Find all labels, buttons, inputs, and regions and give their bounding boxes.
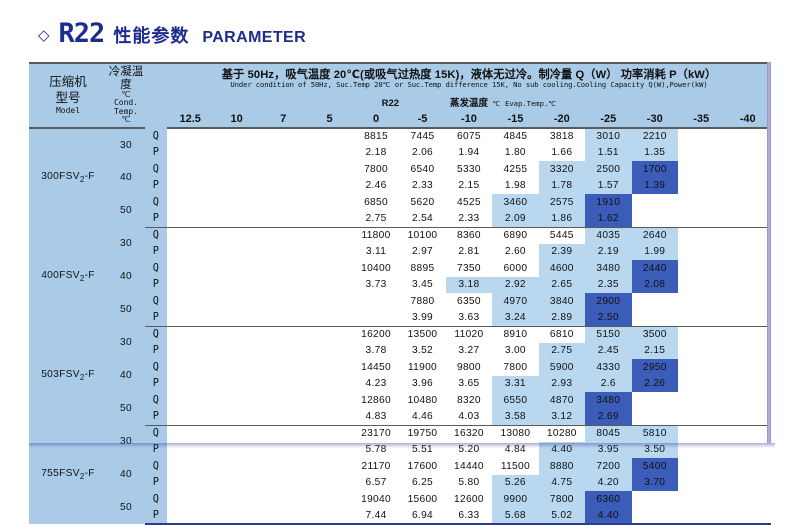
table-body: 300FSV2-F30Q8815744560754845381830102210… <box>29 128 771 524</box>
data-cell: 8815 <box>353 128 399 145</box>
data-cell <box>260 508 306 525</box>
data-cell <box>678 326 724 343</box>
data-cell: 5.02 <box>539 508 585 525</box>
data-cell <box>260 491 306 508</box>
data-cell <box>260 310 306 327</box>
header-cond-temp: 冷凝温度 ℃ Cond. Temp. ℃ <box>107 63 145 128</box>
data-cell <box>213 392 259 409</box>
data-cell: 3840 <box>539 293 585 310</box>
cond-temp-cell: 30 <box>107 326 145 359</box>
data-cell <box>632 293 678 310</box>
data-cell: 11900 <box>399 359 445 376</box>
data-cell: 3.45 <box>399 277 445 294</box>
data-cell <box>678 211 724 228</box>
data-cell: 1.98 <box>492 178 538 195</box>
data-cell <box>724 128 771 145</box>
metric-cell-q: Q <box>145 260 167 277</box>
data-cell <box>724 293 771 310</box>
data-cell: 4.83 <box>353 409 399 426</box>
data-cell <box>167 458 213 475</box>
cond-temp-cell: 30 <box>107 227 145 260</box>
data-cell: 11500 <box>492 458 538 475</box>
model-cell: 300FSV2-F <box>29 128 107 227</box>
data-cell: 7350 <box>446 260 492 277</box>
data-cell <box>724 359 771 376</box>
data-cell <box>306 376 352 393</box>
data-cell <box>167 293 213 310</box>
data-cell <box>678 409 724 426</box>
cond-temp-cell: 30 <box>107 128 145 161</box>
data-cell: 5150 <box>585 326 631 343</box>
data-cell: 4525 <box>446 194 492 211</box>
header-evap-row: R22 蒸发温度 ℃ Evap.Temp.℃ <box>167 93 771 111</box>
data-cell: 3.58 <box>492 409 538 426</box>
data-cell <box>167 194 213 211</box>
data-cell: 2.09 <box>492 211 538 228</box>
data-cell <box>260 326 306 343</box>
data-cell <box>724 260 771 277</box>
header-r22-label: R22 <box>382 98 399 109</box>
data-cell <box>632 508 678 525</box>
data-cell <box>306 260 352 277</box>
data-cell <box>213 409 259 426</box>
data-cell <box>306 277 352 294</box>
cond-temp-cell: 30 <box>107 425 145 458</box>
data-cell: 14440 <box>446 458 492 475</box>
data-cell: 16320 <box>446 425 492 442</box>
header-temp-7: -15 <box>492 111 538 128</box>
data-cell: 4330 <box>585 359 631 376</box>
table-row: 40Q21170176001444011500888072005400 <box>29 458 771 475</box>
cond-temp-cell: 50 <box>107 293 145 326</box>
data-cell <box>306 161 352 178</box>
table-row: 400FSV2-F30Q1180010100836068905445403526… <box>29 227 771 244</box>
data-cell: 8910 <box>492 326 538 343</box>
header-temp-0: 12.5 <box>167 111 213 128</box>
data-cell: 1910 <box>585 194 631 211</box>
data-cell: 2.39 <box>539 244 585 261</box>
data-cell <box>632 194 678 211</box>
data-cell: 5620 <box>399 194 445 211</box>
metric-cell-q: Q <box>145 161 167 178</box>
data-cell: 1.86 <box>539 211 585 228</box>
data-cell <box>306 425 352 442</box>
metric-cell-p: P <box>145 244 167 261</box>
data-cell: 2.92 <box>492 277 538 294</box>
data-cell: 5810 <box>632 425 678 442</box>
data-cell <box>213 277 259 294</box>
data-cell <box>724 508 771 525</box>
data-cell: 6550 <box>492 392 538 409</box>
data-cell: 4.40 <box>585 508 631 525</box>
data-cell <box>213 128 259 145</box>
header-model-cn2: 型号 <box>29 91 107 107</box>
data-cell <box>167 178 213 195</box>
data-cell <box>678 227 724 244</box>
data-cell <box>306 310 352 327</box>
data-cell <box>724 161 771 178</box>
data-cell <box>724 310 771 327</box>
data-cell <box>167 211 213 228</box>
data-cell <box>724 145 771 162</box>
data-cell <box>213 260 259 277</box>
diamond-icon: ◇ <box>38 28 50 43</box>
header-temp-1: 10 <box>213 111 259 128</box>
data-cell: 12600 <box>446 491 492 508</box>
data-cell: 2.15 <box>446 178 492 195</box>
data-cell <box>167 376 213 393</box>
data-cell: 2.50 <box>585 310 631 327</box>
cond-temp-cell: 40 <box>107 260 145 293</box>
data-cell: 7445 <box>399 128 445 145</box>
data-cell: 4.75 <box>539 475 585 492</box>
data-cell: 5.68 <box>492 508 538 525</box>
data-cell <box>260 145 306 162</box>
data-cell: 19750 <box>399 425 445 442</box>
data-cell: 8045 <box>585 425 631 442</box>
data-cell <box>167 260 213 277</box>
data-cell <box>678 392 724 409</box>
data-cell <box>167 145 213 162</box>
data-cell: 2210 <box>632 128 678 145</box>
data-cell <box>213 326 259 343</box>
data-cell <box>678 458 724 475</box>
right-edge-decoration <box>767 62 771 443</box>
data-cell: 2.45 <box>585 343 631 360</box>
data-cell: 6350 <box>446 293 492 310</box>
table-row: 40Q10400889573506000460034802440 <box>29 260 771 277</box>
data-cell <box>632 409 678 426</box>
data-cell: 9800 <box>446 359 492 376</box>
data-cell: 2.81 <box>446 244 492 261</box>
data-cell <box>678 145 724 162</box>
performance-table: 压缩机 型号 Model 冷凝温度 ℃ Cond. Temp. ℃ 基于 50H… <box>29 62 771 525</box>
data-cell: 2.60 <box>492 244 538 261</box>
data-cell <box>260 425 306 442</box>
data-cell <box>724 409 771 426</box>
data-cell <box>632 310 678 327</box>
data-cell: 3.52 <box>399 343 445 360</box>
cond-temp-cell: 40 <box>107 458 145 491</box>
data-cell: 10480 <box>399 392 445 409</box>
title-english: PARAMETER <box>202 30 306 46</box>
data-cell: 1.51 <box>585 145 631 162</box>
data-cell: 2950 <box>632 359 678 376</box>
data-cell <box>260 458 306 475</box>
metric-cell-p: P <box>145 310 167 327</box>
data-cell: 4845 <box>492 128 538 145</box>
data-cell <box>213 211 259 228</box>
data-cell <box>213 310 259 327</box>
data-cell: 2900 <box>585 293 631 310</box>
data-cell: 2.75 <box>353 211 399 228</box>
data-cell: 4870 <box>539 392 585 409</box>
data-cell <box>213 475 259 492</box>
data-cell <box>213 458 259 475</box>
data-cell <box>213 343 259 360</box>
cond-temp-cell: 50 <box>107 392 145 425</box>
data-cell: 2.33 <box>446 211 492 228</box>
data-cell: 19040 <box>353 491 399 508</box>
data-cell: 13080 <box>492 425 538 442</box>
data-cell: 6075 <box>446 128 492 145</box>
data-cell: 1700 <box>632 161 678 178</box>
data-cell: 1.94 <box>446 145 492 162</box>
data-cell <box>678 310 724 327</box>
data-cell <box>213 145 259 162</box>
data-cell: 2.06 <box>399 145 445 162</box>
data-cell: 17600 <box>399 458 445 475</box>
data-cell: 5445 <box>539 227 585 244</box>
data-cell <box>724 277 771 294</box>
data-cell: 16200 <box>353 326 399 343</box>
data-cell <box>306 326 352 343</box>
data-cell: 13500 <box>399 326 445 343</box>
metric-cell-p: P <box>145 343 167 360</box>
data-cell: 5330 <box>446 161 492 178</box>
data-cell: 6890 <box>492 227 538 244</box>
model-cell: 400FSV2-F <box>29 227 107 326</box>
data-cell <box>724 425 771 442</box>
data-cell <box>213 293 259 310</box>
data-cell <box>678 260 724 277</box>
data-cell: 10100 <box>399 227 445 244</box>
data-cell <box>632 491 678 508</box>
data-cell <box>724 343 771 360</box>
data-cell: 4.46 <box>399 409 445 426</box>
table-row: 755FSV2-F30Q2317019750163201308010280804… <box>29 425 771 442</box>
data-cell <box>678 425 724 442</box>
data-cell: 3480 <box>585 260 631 277</box>
metric-cell-p: P <box>145 145 167 162</box>
data-cell <box>213 508 259 525</box>
header-temp-3: 5 <box>306 111 352 128</box>
data-cell <box>213 491 259 508</box>
data-cell: 3.63 <box>446 310 492 327</box>
data-cell <box>167 161 213 178</box>
data-cell <box>260 128 306 145</box>
metric-cell-q: Q <box>145 128 167 145</box>
table-row: 50Q190401560012600990078006360 <box>29 491 771 508</box>
data-cell: 2640 <box>632 227 678 244</box>
data-cell: 10280 <box>539 425 585 442</box>
data-cell <box>213 244 259 261</box>
metric-cell-q: Q <box>145 458 167 475</box>
data-cell: 3.24 <box>492 310 538 327</box>
data-cell <box>306 343 352 360</box>
data-cell: 4035 <box>585 227 631 244</box>
data-cell: 3.70 <box>632 475 678 492</box>
metric-cell-q: Q <box>145 293 167 310</box>
data-cell: 8880 <box>539 458 585 475</box>
data-cell: 23170 <box>353 425 399 442</box>
data-cell: 9900 <box>492 491 538 508</box>
refrigerant-label: R22 <box>59 20 105 47</box>
data-cell: 1.39 <box>632 178 678 195</box>
data-cell <box>632 211 678 228</box>
data-cell <box>678 376 724 393</box>
header-temp-9: -25 <box>585 111 631 128</box>
data-cell: 6.57 <box>353 475 399 492</box>
data-cell: 3.73 <box>353 277 399 294</box>
data-cell: 3.11 <box>353 244 399 261</box>
data-cell <box>678 277 724 294</box>
data-cell <box>260 343 306 360</box>
data-cell <box>167 244 213 261</box>
data-cell: 2.15 <box>632 343 678 360</box>
data-cell <box>724 211 771 228</box>
data-cell <box>260 475 306 492</box>
data-cell: 3.12 <box>539 409 585 426</box>
data-cell: 7200 <box>585 458 631 475</box>
metric-cell-p: P <box>145 475 167 492</box>
data-cell <box>260 409 306 426</box>
data-cell: 11800 <box>353 227 399 244</box>
data-cell: 3.96 <box>399 376 445 393</box>
data-cell: 8360 <box>446 227 492 244</box>
data-cell: 5900 <box>539 359 585 376</box>
data-cell <box>678 194 724 211</box>
data-cell <box>213 161 259 178</box>
data-cell <box>353 293 399 310</box>
data-cell <box>678 293 724 310</box>
data-cell: 2575 <box>539 194 585 211</box>
data-cell: 6360 <box>585 491 631 508</box>
data-cell: 7800 <box>539 491 585 508</box>
data-cell: 3818 <box>539 128 585 145</box>
data-cell <box>306 475 352 492</box>
data-cell <box>260 376 306 393</box>
metric-cell-p: P <box>145 178 167 195</box>
data-cell <box>213 425 259 442</box>
data-cell <box>306 128 352 145</box>
data-cell <box>678 244 724 261</box>
data-cell: 2.26 <box>632 376 678 393</box>
data-cell: 1.62 <box>585 211 631 228</box>
data-cell <box>724 227 771 244</box>
data-cell <box>260 392 306 409</box>
data-cell <box>167 227 213 244</box>
data-cell <box>678 161 724 178</box>
metric-cell-q: Q <box>145 392 167 409</box>
data-cell <box>724 178 771 195</box>
header-temp-4: 0 <box>353 111 399 128</box>
data-cell <box>213 359 259 376</box>
data-cell <box>306 359 352 376</box>
data-cell: 1.78 <box>539 178 585 195</box>
data-cell <box>678 475 724 492</box>
data-cell <box>213 227 259 244</box>
data-cell <box>678 128 724 145</box>
header-temp-11: -35 <box>678 111 724 128</box>
title-chinese: 性能参数 <box>113 27 189 45</box>
metric-cell-q: Q <box>145 425 167 442</box>
data-cell: 1.66 <box>539 145 585 162</box>
data-cell <box>167 392 213 409</box>
data-cell: 2.97 <box>399 244 445 261</box>
header-model: 压缩机 型号 Model <box>29 63 107 128</box>
data-cell: 11020 <box>446 326 492 343</box>
data-cell: 14450 <box>353 359 399 376</box>
cond-temp-cell: 50 <box>107 194 145 227</box>
data-cell <box>306 145 352 162</box>
data-cell: 2.18 <box>353 145 399 162</box>
data-cell <box>213 178 259 195</box>
data-cell <box>306 194 352 211</box>
data-cell <box>306 178 352 195</box>
table-row: 503FSV2-F30Q1620013500110208910681051503… <box>29 326 771 343</box>
data-cell <box>678 343 724 360</box>
data-cell <box>260 260 306 277</box>
header-condition-en: Under condition of 50Hz, Suc.Temp 20℃ or… <box>171 81 767 89</box>
data-cell <box>167 128 213 145</box>
data-cell <box>167 359 213 376</box>
header-model-cn1: 压缩机 <box>29 75 107 91</box>
data-cell <box>678 491 724 508</box>
data-cell <box>306 458 352 475</box>
data-cell: 4970 <box>492 293 538 310</box>
data-cell <box>306 227 352 244</box>
data-cell: 2.75 <box>539 343 585 360</box>
data-cell <box>678 178 724 195</box>
data-cell: 3460 <box>492 194 538 211</box>
cond-temp-cell: 50 <box>107 491 145 524</box>
header-temp-6: -10 <box>446 111 492 128</box>
data-cell <box>306 409 352 426</box>
data-cell: 7800 <box>492 359 538 376</box>
metric-cell-q: Q <box>145 491 167 508</box>
data-cell: 2.46 <box>353 178 399 195</box>
data-cell: 10400 <box>353 260 399 277</box>
data-cell <box>724 458 771 475</box>
metric-cell-q: Q <box>145 359 167 376</box>
data-cell: 6.33 <box>446 508 492 525</box>
cond-temp-cell: 40 <box>107 359 145 392</box>
header-evap-en: Evap.Temp.℃ <box>505 99 556 108</box>
data-cell <box>260 211 306 228</box>
data-cell: 2440 <box>632 260 678 277</box>
table-row: 300FSV2-F30Q8815744560754845381830102210 <box>29 128 771 145</box>
data-cell: 1.99 <box>632 244 678 261</box>
data-cell: 6.94 <box>399 508 445 525</box>
header-evap-unit: ℃ <box>492 99 500 108</box>
header-cond-cn: 冷凝温度 <box>107 66 145 90</box>
data-cell <box>724 376 771 393</box>
metric-cell-q: Q <box>145 227 167 244</box>
header-cond-en3: ℃ <box>107 116 145 124</box>
data-cell: 6850 <box>353 194 399 211</box>
metric-cell-p: P <box>145 277 167 294</box>
data-cell <box>260 161 306 178</box>
model-cell: 755FSV2-F <box>29 425 107 524</box>
data-cell: 21170 <box>353 458 399 475</box>
data-cell: 3.65 <box>446 376 492 393</box>
data-cell: 2.35 <box>585 277 631 294</box>
header-temp-10: -30 <box>632 111 678 128</box>
data-cell <box>724 392 771 409</box>
data-cell: 6.25 <box>399 475 445 492</box>
header-temp-8: -20 <box>539 111 585 128</box>
table-row: 50Q12860104808320655048703480 <box>29 392 771 409</box>
cond-temp-cell: 40 <box>107 161 145 194</box>
data-cell <box>724 244 771 261</box>
metric-cell-q: Q <box>145 194 167 211</box>
data-cell <box>167 277 213 294</box>
table-row: 40Q7800654053304255332025001700 <box>29 161 771 178</box>
header-temp-5: -5 <box>399 111 445 128</box>
model-cell: 503FSV2-F <box>29 326 107 425</box>
data-cell <box>213 194 259 211</box>
